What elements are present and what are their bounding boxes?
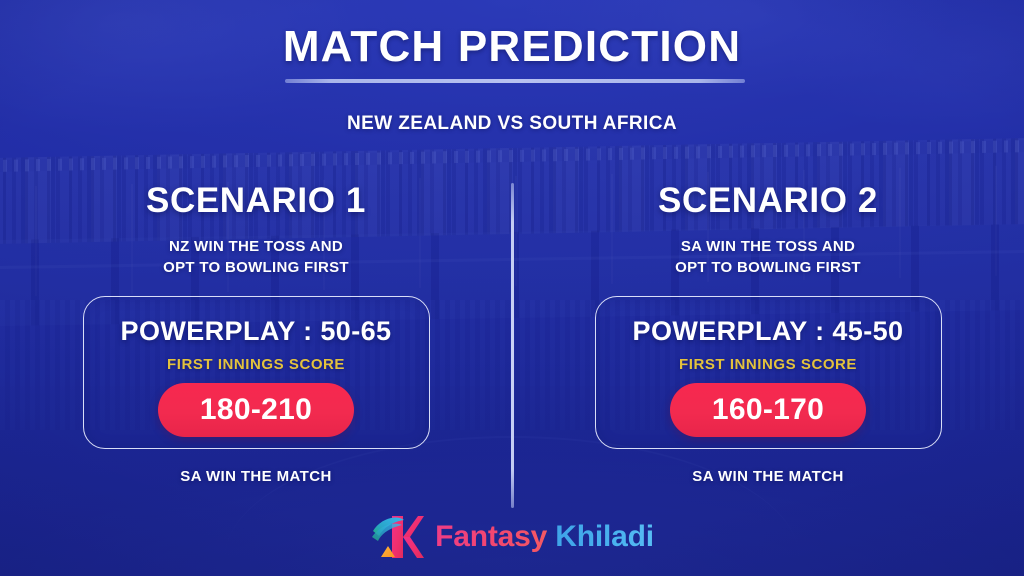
scenario-2-toss-note-line1: SA WIN THE TOSS AND [675,236,861,257]
scenario-2-toss-note-line2: OPT TO BOWLING FIRST [675,257,861,278]
brand-word-khiladi: Khiladi [555,520,654,553]
scenario-1-toss-note-line1: NZ WIN THE TOSS AND [163,236,349,257]
scenario-2-first-innings-score: 160-170 [670,383,866,437]
page-title: MATCH PREDICTION [0,21,1024,73]
scenario-1-heading: SCENARIO 1 [146,180,366,222]
brand-logo: Fantasy Khiladi [0,512,1024,562]
scenario-2-powerplay: POWERPLAY : 45-50 [633,316,904,347]
match-prediction-poster: MATCH PREDICTION NEW ZEALAND VS SOUTH AF… [0,0,1024,576]
scenario-1-toss-note: NZ WIN THE TOSS AND OPT TO BOWLING FIRST [163,236,349,279]
scenario-2-first-innings-label: FIRST INNINGS SCORE [679,356,857,373]
brand-word-fantasy: Fantasy [435,520,547,553]
fantasy-khiladi-k-mark-icon [370,512,424,562]
scenario-panel-1: SCENARIO 1 NZ WIN THE TOSS AND OPT TO BO… [0,180,512,485]
scenario-1-first-innings-label: FIRST INNINGS SCORE [167,356,345,373]
title-underline-rule [285,79,745,83]
scenario-2-prediction-card: POWERPLAY : 45-50 FIRST INNINGS SCORE 16… [595,296,942,449]
brand-logo-wordmark: Fantasy Khiladi [435,522,654,552]
scenario-1-first-innings-score: 180-210 [158,383,354,437]
scenario-2-heading: SCENARIO 2 [658,180,878,222]
scenarios-container: SCENARIO 1 NZ WIN THE TOSS AND OPT TO BO… [0,180,1024,485]
scenario-1-powerplay: POWERPLAY : 50-65 [121,316,392,347]
match-teams-subtitle: NEW ZEALAND VS SOUTH AFRICA [0,113,1024,135]
scenario-1-prediction-card: POWERPLAY : 50-65 FIRST INNINGS SCORE 18… [83,296,430,449]
scenario-2-toss-note: SA WIN THE TOSS AND OPT TO BOWLING FIRST [675,236,861,279]
scenario-2-result: SA WIN THE MATCH [692,468,843,485]
scenario-1-toss-note-line2: OPT TO BOWLING FIRST [163,257,349,278]
scenario-panel-2: SCENARIO 2 SA WIN THE TOSS AND OPT TO BO… [512,180,1024,485]
scenario-1-result: SA WIN THE MATCH [180,468,331,485]
